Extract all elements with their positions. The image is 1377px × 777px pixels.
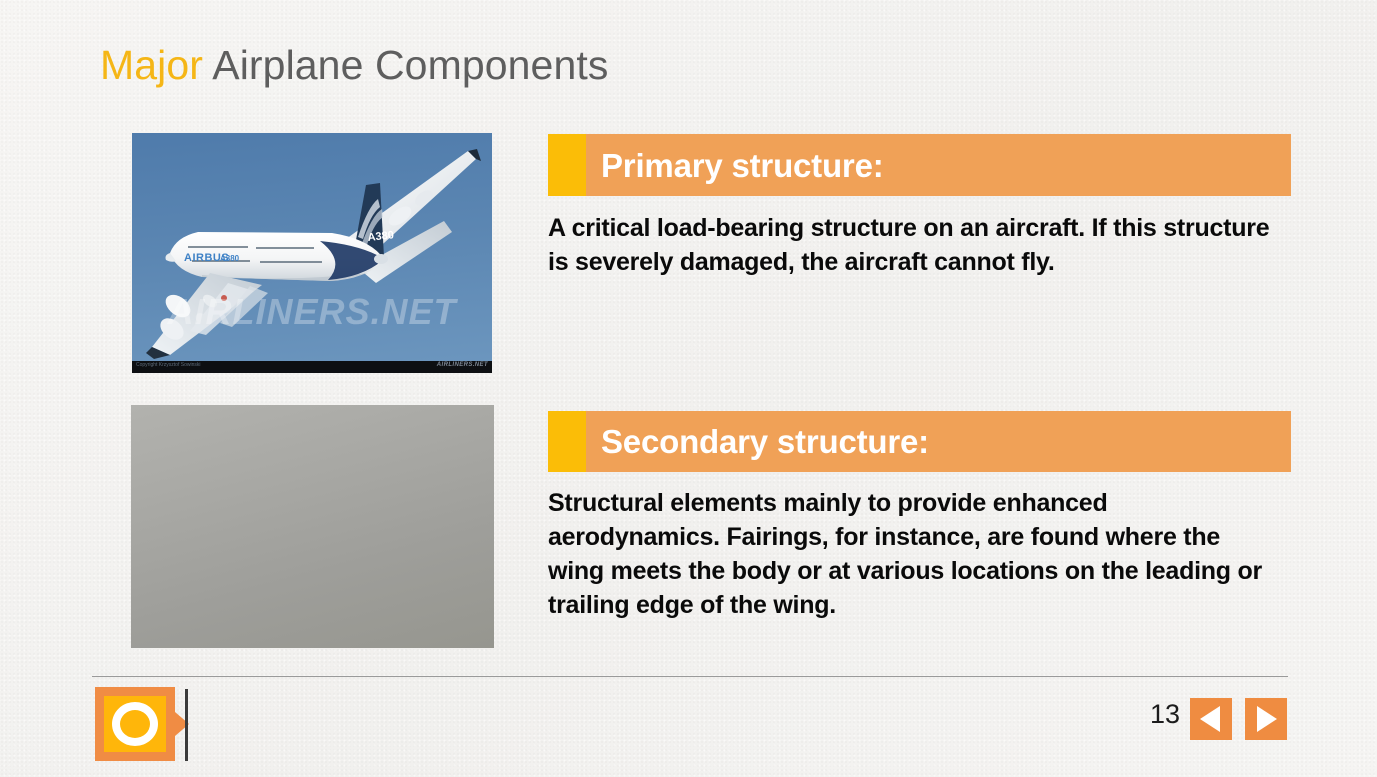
chevron-right-icon [1257,706,1277,732]
svg-text:A380: A380 [367,229,394,244]
a380-illustration: A380 AIRBUS A380 [132,133,492,373]
section-accent-swatch [548,134,586,196]
section-header-primary: Primary structure: [548,134,1291,196]
chevron-left-icon [1200,706,1220,732]
image-source-mark: AIRLINERS.NET [437,362,488,368]
next-slide-button[interactable] [1245,698,1287,740]
section-body-primary: A critical load-bearing structure on an … [548,211,1278,279]
page-title-accent: Major [100,42,203,88]
image-credit-band: Copyright Krzysztof Sowinski AIRLINERS.N… [132,361,492,373]
image-landing-gear-wheel-fairing [131,405,494,648]
footer-vertical-divider [185,689,188,761]
image-credit-text: Copyright Krzysztof Sowinski [136,362,200,368]
tarmac-background [131,405,494,648]
orange-ring-logo-icon [95,687,175,761]
section-heading-secondary: Secondary structure: [586,425,929,458]
section-body-secondary: Structural elements mainly to provide en… [548,486,1278,622]
page-number: 13 [1120,699,1180,730]
image-airbus-a380-in-flight: A380 AIRBUS A380 [132,133,492,373]
footer-divider [92,676,1288,677]
section-heading-primary: Primary structure: [586,149,884,182]
page-title-rest: Airplane Components [203,42,608,88]
page-title: Major Airplane Components [100,40,608,90]
slide-canvas: Major Airplane Components [0,0,1377,777]
previous-slide-button[interactable] [1190,698,1232,740]
section-accent-swatch [548,411,586,472]
logo-ring [112,702,158,746]
section-header-secondary: Secondary structure: [548,411,1291,472]
svg-text:A380: A380 [220,254,240,263]
